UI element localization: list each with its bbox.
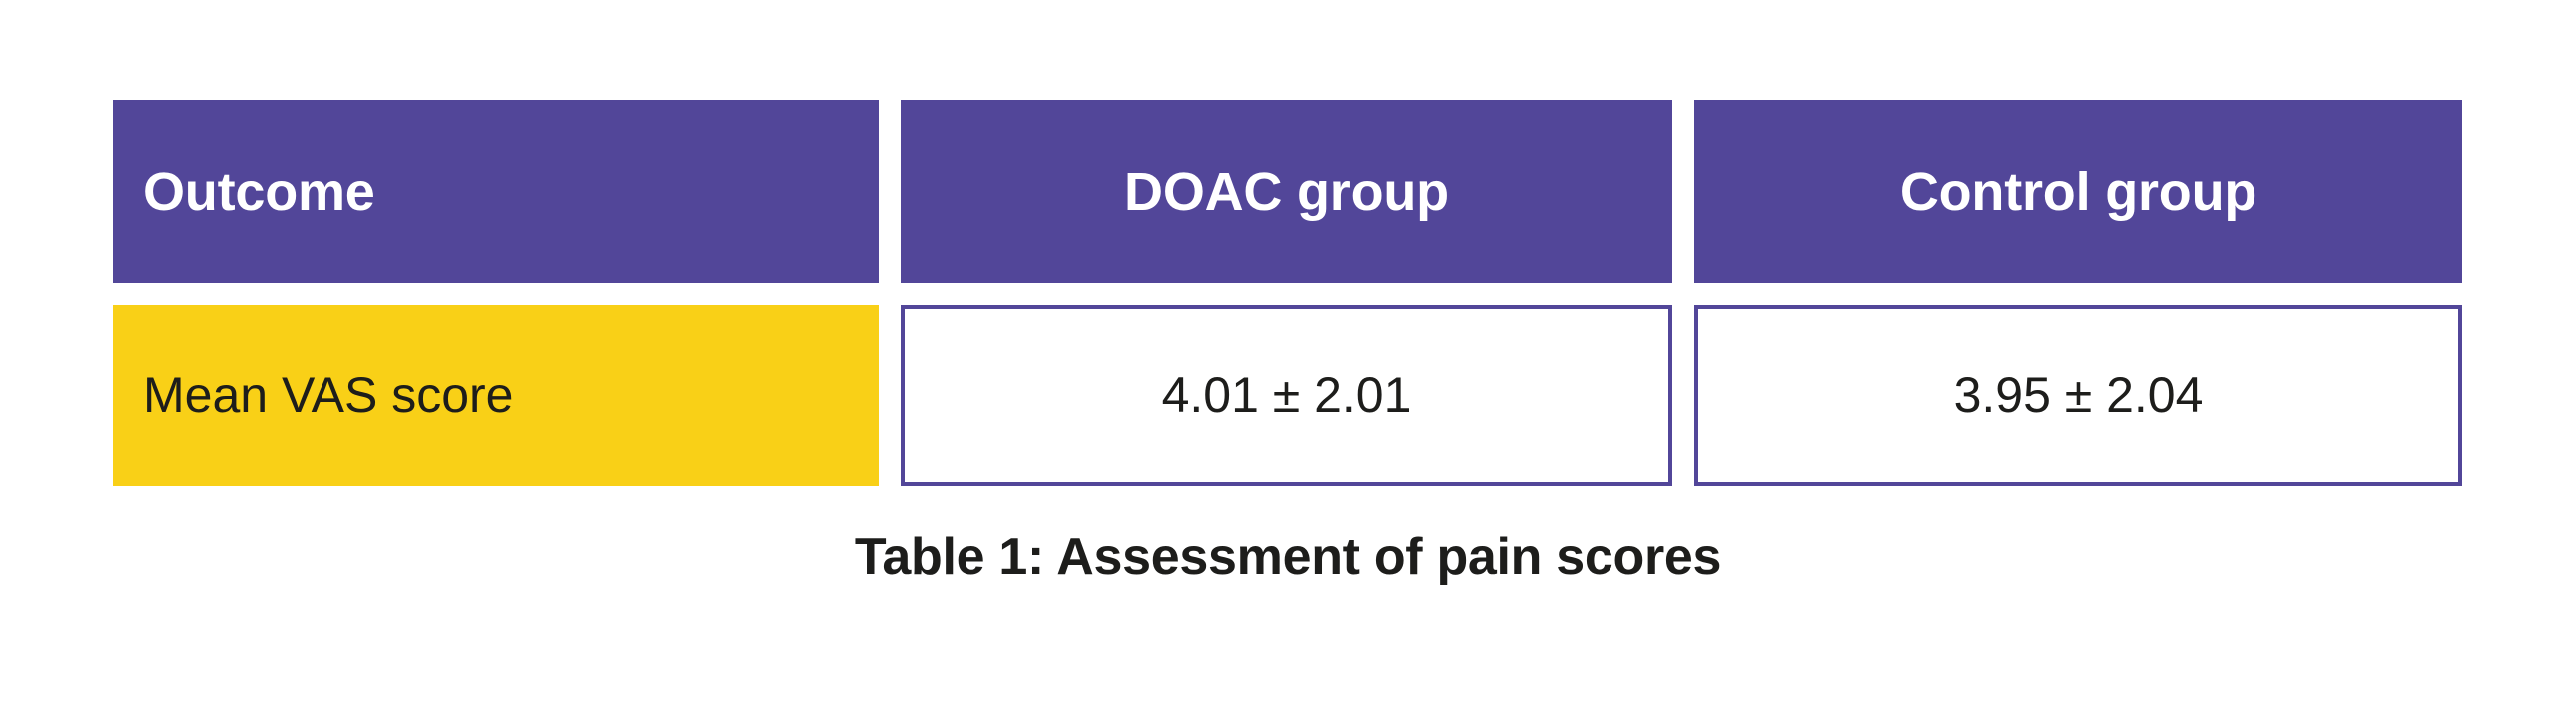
- column-header-outcome-label: Outcome: [143, 161, 375, 223]
- column-header-control-group-label: Control group: [1900, 161, 2256, 223]
- cell-control-mean-vas-score: 3.95 ± 2.04: [1694, 305, 2462, 486]
- data-table: Outcome DOAC group Control group Mean VA…: [113, 100, 2463, 486]
- table-caption: Table 1: Assessment of pain scores: [113, 527, 2463, 587]
- table-figure: Outcome DOAC group Control group Mean VA…: [0, 0, 2576, 704]
- column-header-outcome: Outcome: [113, 100, 879, 283]
- column-header-doac-group: DOAC group: [901, 100, 1672, 283]
- cell-outcome-mean-vas-score-label: Mean VAS score: [143, 366, 513, 424]
- row-spacer: [113, 283, 2463, 305]
- column-header-doac-group-label: DOAC group: [1124, 161, 1449, 223]
- cell-doac-mean-vas-score-value: 4.01 ± 2.01: [1162, 366, 1412, 424]
- table-header-row: Outcome DOAC group Control group: [113, 100, 2463, 283]
- cell-control-mean-vas-score-value: 3.95 ± 2.04: [1954, 366, 2204, 424]
- cell-doac-mean-vas-score: 4.01 ± 2.01: [901, 305, 1672, 486]
- column-header-control-group: Control group: [1694, 100, 2462, 283]
- cell-outcome-mean-vas-score: Mean VAS score: [113, 305, 879, 486]
- table-row: Mean VAS score 4.01 ± 2.01 3.95 ± 2.04: [113, 305, 2463, 486]
